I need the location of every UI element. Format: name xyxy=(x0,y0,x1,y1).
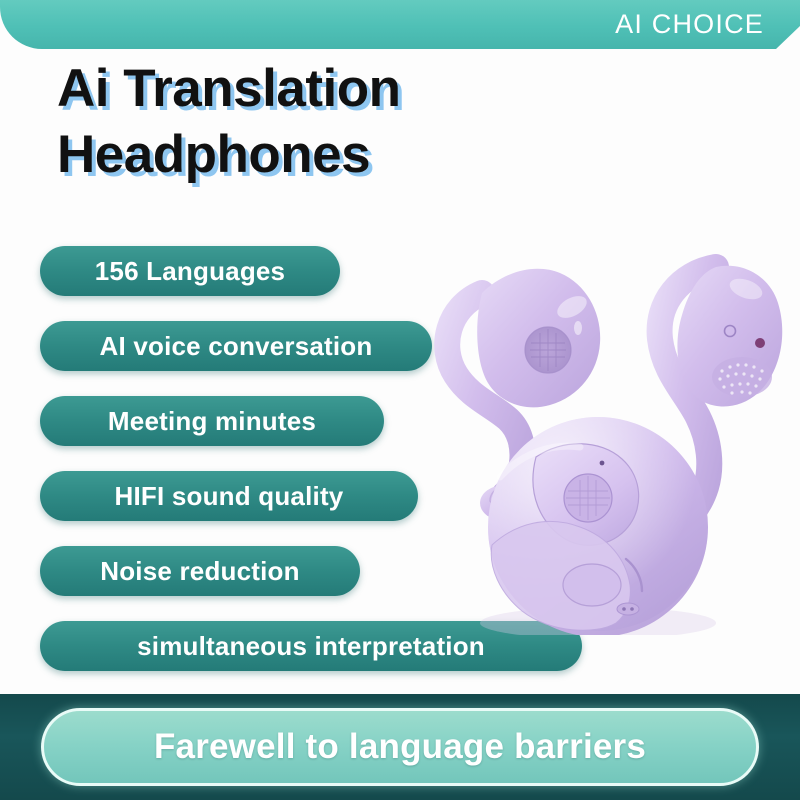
feature-pill-languages: 156 Languages xyxy=(40,246,340,296)
product-image xyxy=(430,215,800,635)
header-banner: AI CHOICE xyxy=(0,0,800,49)
footer-banner: Farewell to language barriers xyxy=(0,694,800,800)
page-title: Ai Translation Headphones xyxy=(57,56,577,188)
feature-pill-meeting-minutes: Meeting minutes xyxy=(40,396,384,446)
feature-label: AI voice conversation xyxy=(100,331,373,362)
feature-pill-noise-reduction: Noise reduction xyxy=(40,546,360,596)
tagline-text: Farewell to language barriers xyxy=(154,727,646,767)
feature-pill-hifi-sound: HIFI sound quality xyxy=(40,471,418,521)
feature-label: Noise reduction xyxy=(100,556,299,587)
feature-label: simultaneous interpretation xyxy=(137,631,485,662)
feature-label: 156 Languages xyxy=(95,256,285,287)
ai-choice-badge: AI CHOICE xyxy=(615,7,764,41)
feature-pill-voice-conversation: AI voice conversation xyxy=(40,321,432,371)
page-title-line-2: Headphones xyxy=(57,122,577,188)
page-title-line-1: Ai Translation xyxy=(57,56,577,122)
right-earbud-mesh xyxy=(712,357,772,397)
feature-label: Meeting minutes xyxy=(108,406,316,437)
feature-label: HIFI sound quality xyxy=(115,481,344,512)
tagline-pill: Farewell to language barriers xyxy=(41,708,759,786)
product-poster: AI CHOICE Ai Translation Headphones 156 … xyxy=(0,0,800,800)
product-illustration xyxy=(430,215,800,635)
